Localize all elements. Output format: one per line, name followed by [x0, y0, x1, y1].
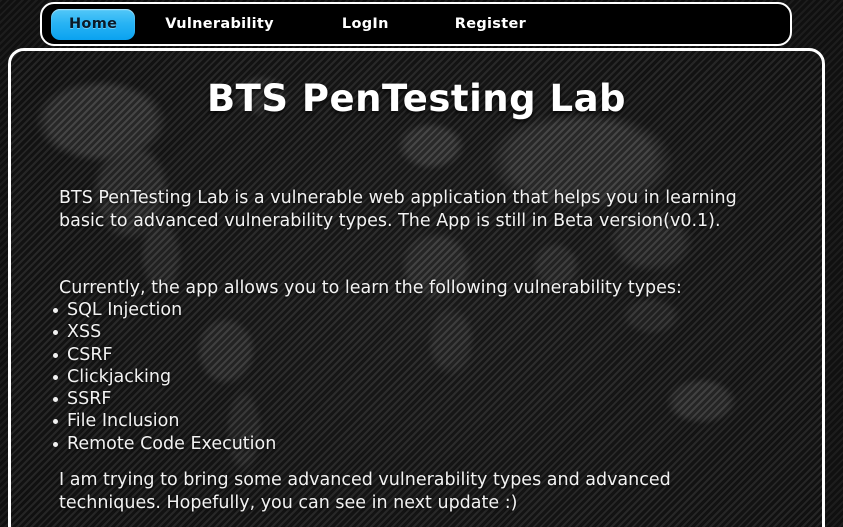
nav-item-login-label: LogIn: [342, 16, 389, 32]
nav-item-home-label: Home: [69, 16, 117, 32]
list-item: SQL Injection: [46, 299, 276, 321]
list-item: Clickjacking: [46, 366, 276, 388]
main-navigation-bar: Home Vulnerability LogIn Register: [40, 2, 792, 46]
vulnerability-type-list: SQL Injection XSS CSRF Clickjacking SSRF…: [46, 299, 276, 455]
intro-paragraph: BTS PenTesting Lab is a vulnerable web a…: [59, 187, 759, 232]
nav-item-login[interactable]: LogIn: [328, 9, 403, 39]
list-item: Remote Code Execution: [46, 433, 276, 455]
nav-list: Home Vulnerability LogIn Register: [42, 4, 790, 44]
list-item: CSRF: [46, 344, 276, 366]
outro-paragraph: I am trying to bring some advanced vulne…: [59, 469, 759, 514]
page-title: BTS PenTesting Lab: [11, 51, 822, 120]
nav-item-register[interactable]: Register: [441, 9, 540, 39]
nav-item-home[interactable]: Home: [51, 9, 135, 40]
vulnerability-list-intro: Currently, the app allows you to learn t…: [59, 277, 799, 300]
list-item: File Inclusion: [46, 410, 276, 432]
page-root: Home Vulnerability LogIn Register BTS Pe…: [0, 0, 843, 527]
panel-body: BTS PenTesting Lab BTS PenTesting Lab is…: [11, 51, 822, 527]
content-panel: BTS PenTesting Lab BTS PenTesting Lab is…: [8, 48, 825, 527]
list-item: SSRF: [46, 388, 276, 410]
nav-item-vulnerability[interactable]: Vulnerability: [151, 9, 288, 39]
nav-item-vulnerability-label: Vulnerability: [165, 16, 274, 32]
list-item: XSS: [46, 321, 276, 343]
nav-item-register-label: Register: [455, 16, 526, 32]
